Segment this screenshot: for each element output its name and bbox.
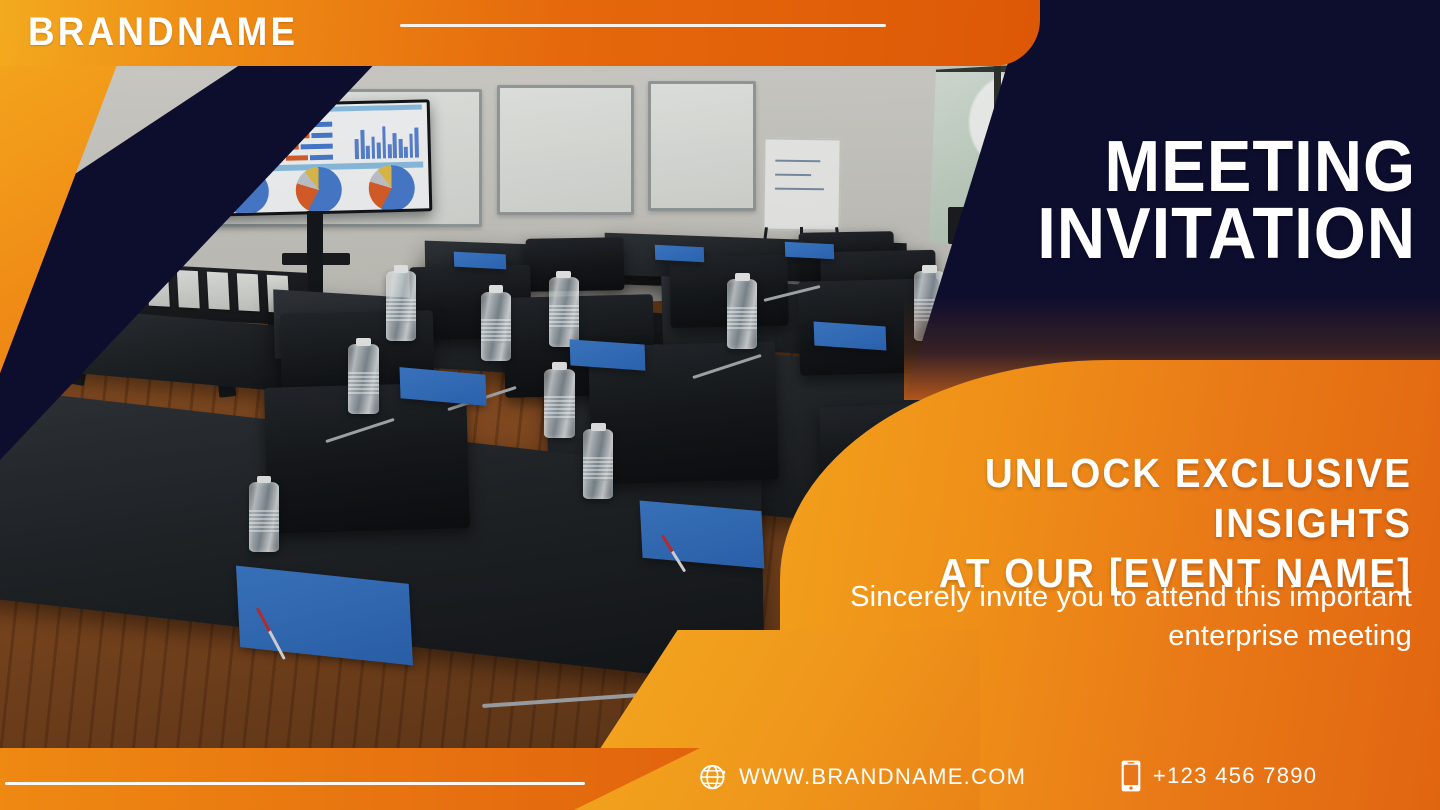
phone-label: +123 456 7890 [1153, 763, 1317, 789]
top-divider-line [400, 24, 886, 27]
title-line-2: INVITATION [942, 201, 1416, 268]
subtext-line-2: enterprise meeting [802, 617, 1412, 656]
meeting-invitation-poster: BRANDNAME MEETING INVITATION UNLOCK EXCL… [0, 0, 1440, 810]
phone-contact[interactable]: +123 456 7890 [1120, 760, 1317, 792]
headline: UNLOCK EXCLUSIVE INSIGHTS AT OUR [EVENT … [826, 448, 1412, 598]
footer: WWW.BRANDNAME.COM +123 456 7890 [0, 740, 1440, 810]
subtext-line-1: Sincerely invite you to attend this impo… [802, 578, 1412, 617]
globe-icon [698, 762, 728, 792]
smartphone-icon [1120, 760, 1142, 792]
title-line-1: MEETING [942, 134, 1416, 201]
invitation-subtext: Sincerely invite you to attend this impo… [802, 578, 1412, 655]
website-contact[interactable]: WWW.BRANDNAME.COM [698, 762, 1026, 792]
page-title: MEETING INVITATION [906, 134, 1416, 268]
headline-line-1: UNLOCK EXCLUSIVE INSIGHTS [861, 448, 1412, 548]
brand-logo-text: BRANDNAME [28, 10, 298, 55]
website-label: WWW.BRANDNAME.COM [739, 764, 1026, 790]
